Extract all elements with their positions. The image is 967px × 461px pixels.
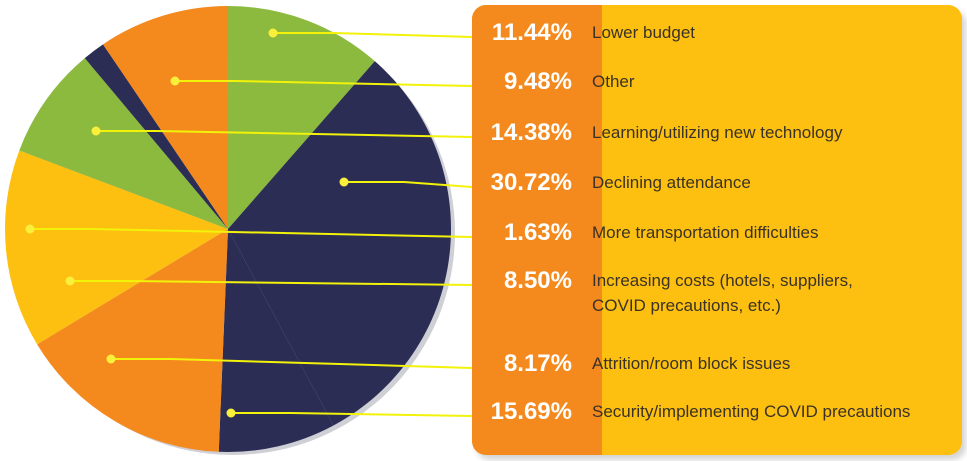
legend-label: More transportation difficulties bbox=[572, 220, 818, 245]
leader-dot bbox=[26, 225, 35, 234]
leader-dot bbox=[171, 77, 180, 86]
leader-dot bbox=[92, 127, 101, 136]
legend-row[interactable]: 1.63%More transportation difficulties bbox=[472, 220, 962, 246]
leader-dot bbox=[269, 29, 278, 38]
legend-percent: 14.38% bbox=[472, 120, 572, 146]
legend-label: Security/implementing COVID precautions bbox=[572, 399, 910, 424]
leader-dot bbox=[107, 355, 116, 364]
pie-chart-area bbox=[0, 0, 470, 461]
legend-label: Increasing costs (hotels, suppliers, COV… bbox=[572, 268, 853, 318]
leader-dot bbox=[340, 178, 349, 187]
legend-percent: 30.72% bbox=[472, 170, 572, 196]
legend-percent: 8.17% bbox=[472, 351, 572, 377]
leader-dot bbox=[66, 277, 75, 286]
legend-row[interactable]: 14.38%Learning/utilizing new technology bbox=[472, 120, 962, 146]
legend-row[interactable]: 8.17%Attrition/room block issues bbox=[472, 351, 962, 377]
legend-label: Declining attendance bbox=[572, 170, 751, 195]
legend-label: Learning/utilizing new technology bbox=[572, 120, 842, 145]
legend-rows: 11.44%Lower budget9.48%Other14.38%Learni… bbox=[472, 5, 962, 455]
leader-dot bbox=[227, 409, 236, 418]
legend-row[interactable]: 15.69%Security/implementing COVID precau… bbox=[472, 399, 962, 425]
legend-percent: 9.48% bbox=[472, 69, 572, 95]
legend-percent: 8.50% bbox=[472, 268, 572, 294]
legend-percent: 1.63% bbox=[472, 220, 572, 246]
legend-row[interactable]: 9.48%Other bbox=[472, 69, 962, 95]
legend-label: Attrition/room block issues bbox=[572, 351, 790, 376]
pie-chart-figure: 11.44%Lower budget9.48%Other14.38%Learni… bbox=[0, 0, 967, 461]
legend-row[interactable]: 30.72%Declining attendance bbox=[472, 170, 962, 196]
legend-percent: 11.44% bbox=[472, 20, 572, 46]
legend-panel: 11.44%Lower budget9.48%Other14.38%Learni… bbox=[472, 5, 962, 455]
legend-percent: 15.69% bbox=[472, 399, 572, 425]
legend-label: Other bbox=[572, 69, 635, 94]
legend-row[interactable]: 11.44%Lower budget bbox=[472, 20, 962, 46]
legend-label: Lower budget bbox=[572, 20, 695, 45]
legend-row[interactable]: 8.50%Increasing costs (hotels, suppliers… bbox=[472, 268, 962, 318]
